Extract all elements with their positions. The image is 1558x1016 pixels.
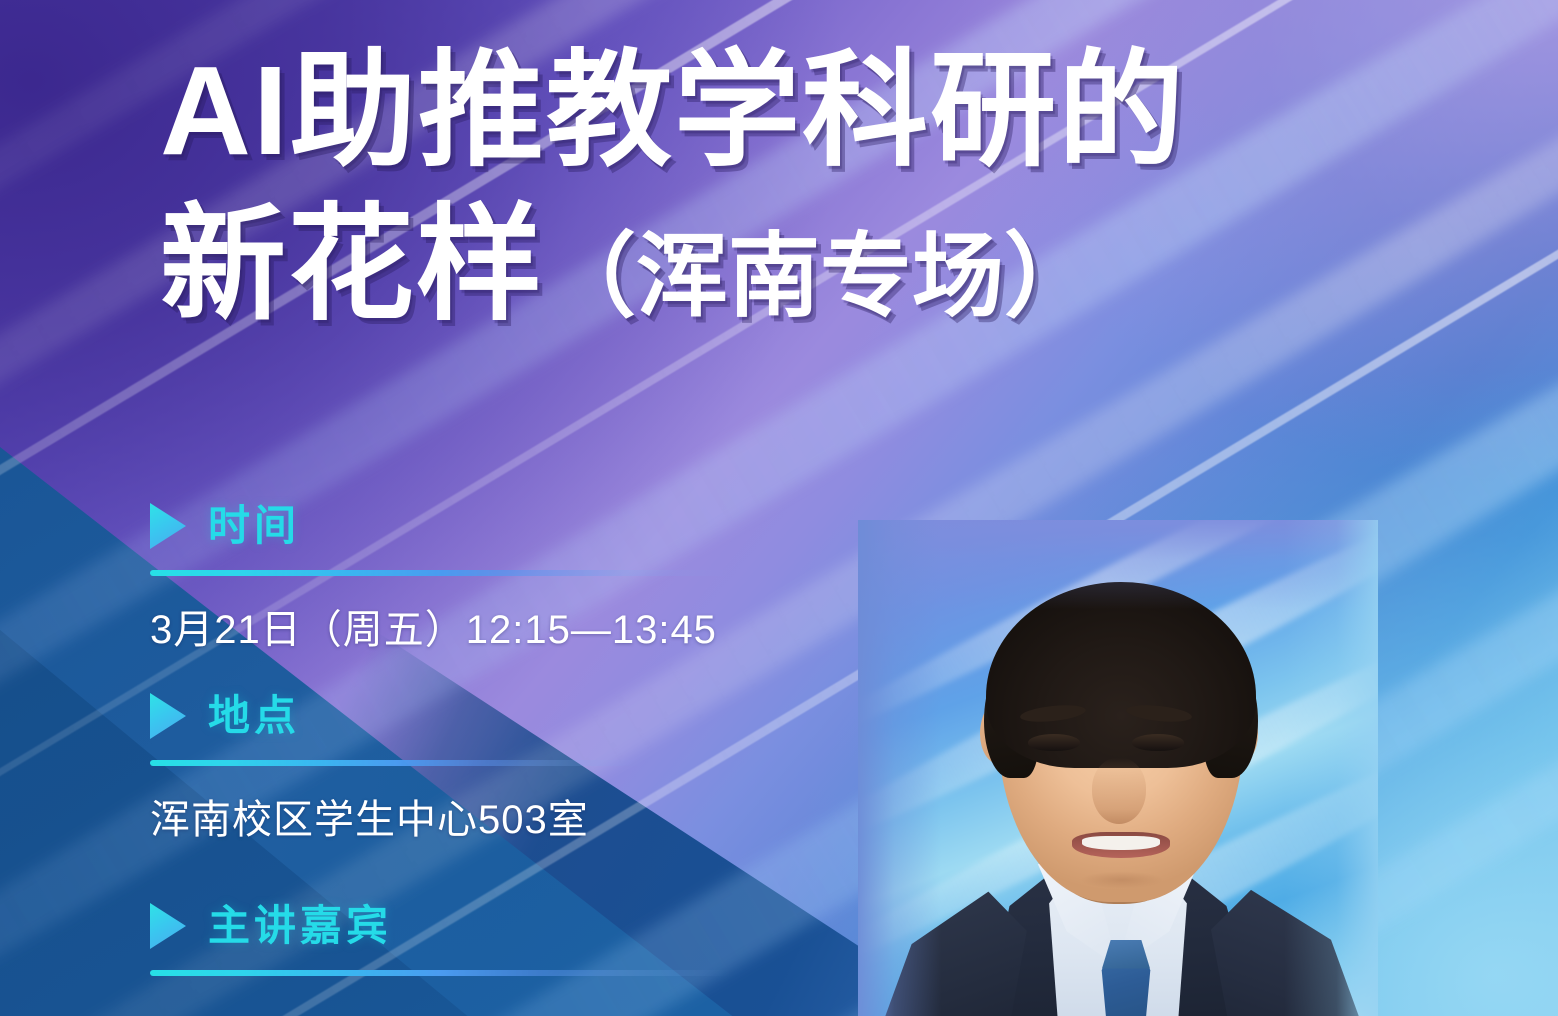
info-rule-guest [150, 970, 810, 976]
mouth [1072, 832, 1170, 858]
info-rule-place [150, 760, 710, 766]
speaker-portrait [858, 520, 1378, 1016]
eye-left [1028, 734, 1080, 751]
info-label-guest: 主讲嘉宾 [208, 905, 392, 947]
info-label-time: 时间 [208, 505, 300, 547]
speaker-figure [858, 520, 1378, 1016]
hair [986, 582, 1256, 768]
play-triangle-icon [150, 693, 186, 739]
info-value-time: 3月21日（周五）12:15—13:45 [150, 606, 908, 654]
play-triangle-icon [150, 503, 186, 549]
play-triangle-icon [150, 903, 186, 949]
title-line-2: 新花样（浑南专场） [160, 200, 1460, 330]
info-value-place: 浑南校区学生中心503室 [150, 796, 908, 844]
info-rule-time [150, 570, 810, 576]
info-label-place: 地点 [208, 695, 300, 737]
info-label-row-guest: 主讲嘉宾 [148, 898, 908, 954]
info-section-guest: 主讲嘉宾 [148, 898, 908, 976]
nose [1092, 758, 1146, 824]
info-section-time: 时间 3月21日（周五）12:15—13:45 [148, 498, 908, 654]
title-line-1: AI助推教学科研的 [160, 46, 1460, 176]
title-line-2-main: 新花样 [160, 194, 544, 335]
title-line-2-subtitle: （浑南专场） [544, 226, 1096, 328]
teeth [1082, 836, 1160, 850]
chin-shadow [1064, 868, 1180, 892]
poster-title: AI助推教学科研的 新花样（浑南专场） [160, 46, 1460, 330]
info-label-row-time: 时间 [148, 498, 908, 554]
info-label-row-place: 地点 [148, 688, 908, 744]
info-section-place: 地点 浑南校区学生中心503室 [148, 688, 908, 844]
eye-right [1132, 734, 1184, 751]
event-poster: AI助推教学科研的 新花样（浑南专场） [0, 0, 1558, 1016]
